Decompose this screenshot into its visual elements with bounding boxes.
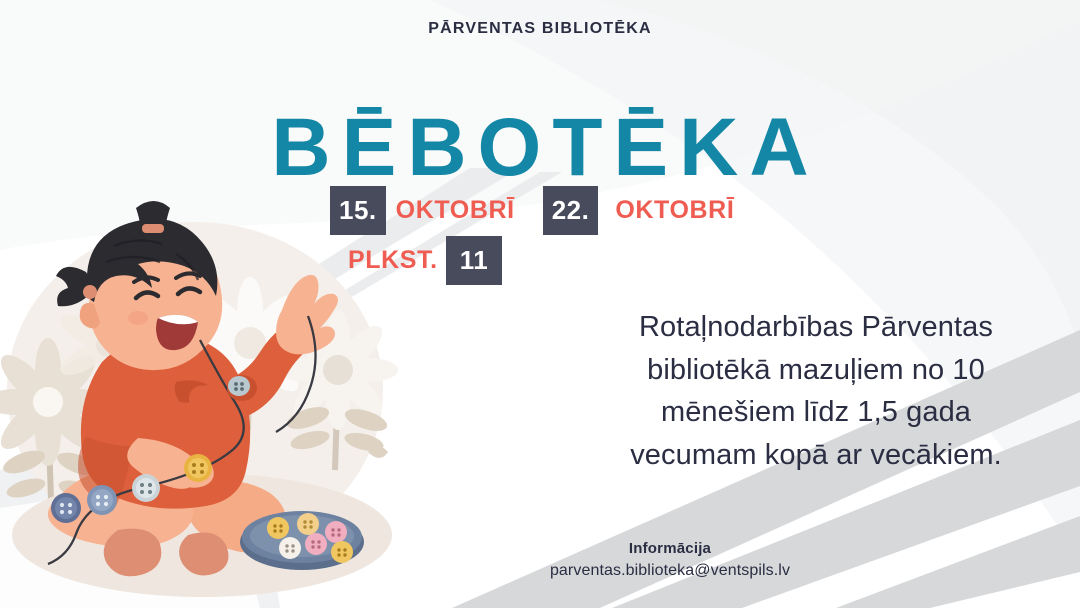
date-badge-day-22: 22. [543, 186, 599, 235]
date-month-second: OKTOBRĪ [598, 186, 734, 223]
event-description: Rotaļnodarbības Pārventas bibliotēkā maz… [600, 306, 1032, 477]
organization-name: PĀRVENTAS BIBLIOTĒKA [0, 20, 1080, 38]
poster-canvas: PĀRVENTAS BIBLIOTĒKA BĒBOTĒKA 15. OKTOBR… [0, 0, 1080, 608]
date-month-first: OKTOBRĪ [386, 186, 515, 223]
time-badge-hour: 11 [446, 236, 503, 285]
page-title: BĒBOTĒKA [0, 107, 1080, 189]
date-badge-day-15: 15. [330, 186, 386, 235]
time-label: PLKST. [348, 236, 446, 273]
contact-email: parventas.biblioteka@ventspils.lv [480, 562, 860, 580]
schedule-block: 15. OKTOBRĪ 22. OKTOBRĪ PLKST. 11 [330, 186, 800, 282]
time-row: PLKST. 11 [330, 236, 800, 282]
date-second: 22. OKTOBRĪ [543, 186, 735, 235]
contact-label: Informācija [480, 540, 860, 557]
date-first: 15. OKTOBRĪ [330, 186, 515, 235]
date-row-first: 15. OKTOBRĪ 22. OKTOBRĪ [330, 186, 800, 232]
contact-info: Informācija parventas.biblioteka@ventspi… [480, 540, 860, 580]
poster-content: PĀRVENTAS BIBLIOTĒKA BĒBOTĒKA 15. OKTOBR… [0, 0, 1080, 608]
